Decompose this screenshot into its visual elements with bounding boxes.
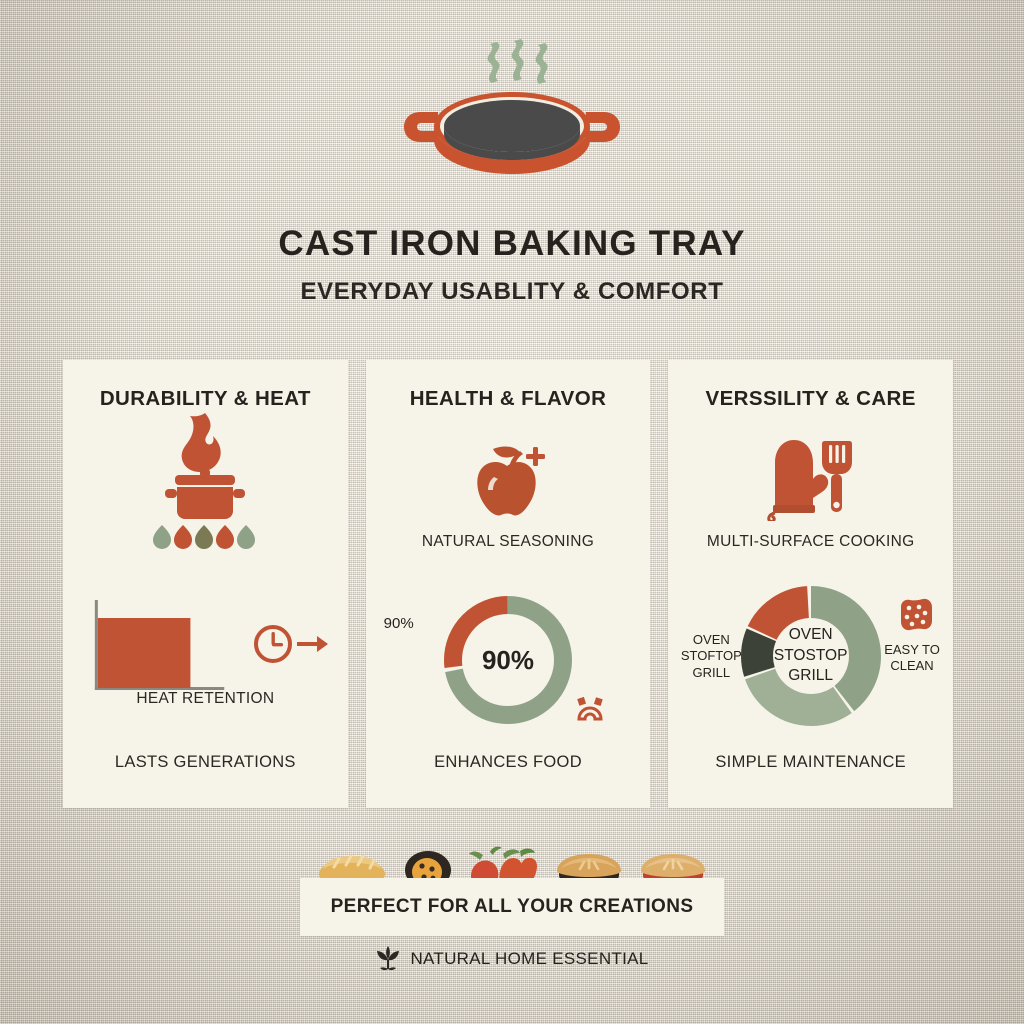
seasoning-donut-chart: 90% [433, 585, 583, 735]
card-versatility-care[interactable]: VERSSILITY & CARE MULTI-SURFACE COOKING [668, 360, 953, 808]
donut-center-line-2: STOSTOP [774, 646, 848, 666]
card-title: HEALTH & FLAVOR [410, 387, 607, 411]
card-title: VERSSILITY & CARE [706, 387, 916, 411]
donut-center-line-1: OVEN [774, 625, 848, 645]
cast-iron-pan-icon [392, 34, 632, 184]
feature-label: NATURAL SEASONING [422, 533, 594, 551]
chart-axis-label: HEAT RETENTION [63, 690, 348, 708]
clock-arrow-icon [249, 622, 333, 666]
flame-drops-icon [150, 523, 260, 549]
right-annotation-line-1: EASY TO [875, 642, 949, 658]
donut-right-annotation: EASY TO CLEAN [875, 642, 949, 675]
left-annotation-line-2: STOFTOP [674, 648, 748, 664]
page-subtitle: EVERYDAY USABLITY & COMFORT [0, 278, 1024, 306]
footer-band-text: PERFECT FOR ALL YOUR CREATIONS [331, 896, 694, 918]
oven-mitt-spatula-icon [761, 433, 861, 521]
feature-cards: DURABILITY & HEAT [63, 360, 953, 808]
feature-label: MULTI-SURFACE COOKING [707, 533, 915, 551]
footer-band: PERFECT FOR ALL YOUR CREATIONS [300, 878, 724, 936]
left-annotation-line-3: GRILL [674, 665, 748, 681]
page-title: CAST IRON BAKING TRAY [0, 224, 1024, 264]
multi-surface-donut-chart: OVEN STOSTOP GRILL [732, 577, 890, 735]
hero-icon-area [0, 34, 1024, 184]
card-bottom-label: SIMPLE MAINTENANCE [668, 753, 953, 772]
donut-center-label: OVEN STOSTOP GRILL [774, 625, 848, 686]
apple-plus-icon [460, 433, 556, 521]
donut-outer-value: 90% [384, 615, 414, 634]
card-bottom-label: LASTS GENERATIONS [63, 753, 348, 772]
donut-left-annotation: OVEN STOFTOP GRILL [674, 632, 748, 681]
tagline-row: NATURAL HOME ESSENTIAL [0, 946, 1024, 972]
right-annotation-line-2: CLEAN [875, 658, 949, 674]
bar-heat-retention [98, 618, 191, 688]
magnet-icon [573, 693, 607, 723]
donut-center-value: 90% [482, 645, 534, 676]
card-health-flavor[interactable]: HEALTH & FLAVOR NATURAL SEASONING 90% 90… [366, 360, 651, 808]
card-bottom-label: ENHANCES FOOD [366, 753, 651, 772]
left-annotation-line-1: OVEN [674, 632, 748, 648]
tagline-text: NATURAL HOME ESSENTIAL [410, 949, 648, 969]
donut-center-line-3: GRILL [774, 666, 848, 686]
leaf-sprout-icon [375, 946, 401, 972]
sponge-icon [895, 598, 933, 632]
card-title: DURABILITY & HEAT [100, 387, 311, 411]
pot-with-flame-icon [153, 433, 257, 521]
card-durability-heat[interactable]: DURABILITY & HEAT [63, 360, 348, 808]
